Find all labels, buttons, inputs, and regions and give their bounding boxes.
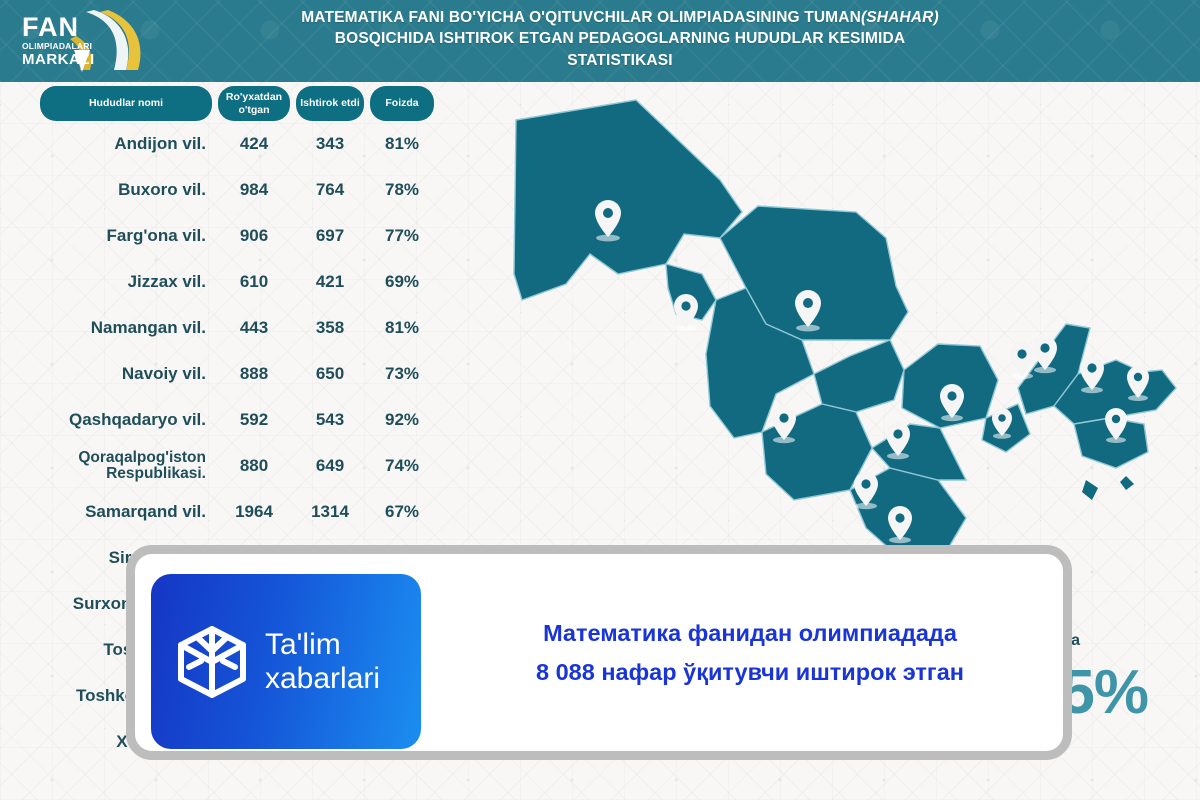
cell-participated: 358 (296, 318, 364, 338)
cell-registered: 1964 (218, 502, 290, 522)
summary-big-percent: 5% (1060, 657, 1148, 728)
cube-icon (175, 623, 249, 701)
cell-percent: 78% (370, 180, 434, 200)
cell-participated: 343 (296, 134, 364, 154)
banner-message-line1: Математика фанидан олимпиадада (543, 614, 957, 652)
table-row: Qoraqalpog'iston Respublikasi.88064974% (40, 443, 470, 489)
cell-region: Qashqadaryo vil. (40, 411, 212, 429)
banner-message-line2: 8 088 нафар ўқитувчи иштирок этган (536, 653, 964, 691)
cell-registered: 888 (218, 364, 290, 384)
cell-registered: 984 (218, 180, 290, 200)
cell-participated: 649 (296, 456, 364, 476)
cell-percent: 74% (370, 456, 434, 476)
cell-percent: 69% (370, 272, 434, 292)
cell-registered: 880 (218, 456, 290, 476)
table-row: Namangan vil.44335881% (40, 305, 470, 351)
title-line-3: STATISTIKASI (567, 52, 672, 69)
table-header-row: Hududlar nomi Ro'yxatdan o'tgan Ishtirok… (40, 86, 470, 121)
banner-logo-line2: xabarlari (265, 662, 380, 695)
map-pin (674, 294, 698, 331)
cell-region: Qoraqalpog'iston Respublikasi. (40, 450, 212, 483)
cell-region: Navoiy vil. (40, 365, 212, 383)
cell-registered: 610 (218, 272, 290, 292)
title-line-2: BOSQICHIDA ISHTIROK ETGAN PEDAGOGLARNING… (335, 30, 905, 47)
cell-percent: 92% (370, 410, 434, 430)
table-row: Navoiy vil.88865073% (40, 351, 470, 397)
summary-partial-label: а (1071, 632, 1080, 650)
column-header-percent: Foizda (370, 86, 434, 121)
cell-registered: 443 (218, 318, 290, 338)
table-row: Farg'ona vil.90669777% (40, 213, 470, 259)
uzbekistan-map-svg (470, 88, 1200, 568)
cell-region: Samarqand vil. (40, 503, 212, 521)
cell-participated: 421 (296, 272, 364, 292)
talim-xabarlari-logo[interactable]: Ta'lim xabarlari (151, 574, 421, 749)
cell-percent: 81% (370, 134, 434, 154)
cell-percent: 77% (370, 226, 434, 246)
column-header-registered: Ro'yxatdan o'tgan (218, 86, 290, 121)
title-line-1-italic: (SHAHAR) (861, 9, 939, 26)
cell-region: Jizzax vil. (40, 273, 212, 291)
cell-registered: 592 (218, 410, 290, 430)
cell-percent: 81% (370, 318, 434, 338)
cell-participated: 697 (296, 226, 364, 246)
talim-xabarlari-banner: Ta'lim xabarlari Математика фанидан олим… (126, 545, 1072, 760)
cell-percent: 67% (370, 502, 434, 522)
logo-line-markazi: MARKAZI (22, 52, 95, 67)
cell-participated: 764 (296, 180, 364, 200)
banner-message: Математика фанидан олимпиадада 8 088 наф… (445, 554, 1055, 751)
uzbekistan-map (470, 88, 1200, 568)
cell-region: Farg'ona vil. (40, 227, 212, 245)
cell-region: Buxoro vil. (40, 181, 212, 199)
banner-logo-text: Ta'lim xabarlari (265, 628, 380, 695)
map-regions (514, 100, 1176, 558)
cell-participated: 543 (296, 410, 364, 430)
cell-participated: 1314 (296, 502, 364, 522)
column-header-participated: Ishtirok etdi (296, 86, 364, 121)
cell-participated: 650 (296, 364, 364, 384)
table-row: Samarqand vil.1964131467% (40, 489, 470, 535)
cell-registered: 906 (218, 226, 290, 246)
table-row: Jizzax vil.61042169% (40, 259, 470, 305)
logo-line-fan: FAN (22, 14, 95, 41)
column-header-region: Hududlar nomi (40, 86, 212, 121)
banner-logo-line1: Ta'lim (265, 628, 341, 661)
page-title: MATEMATIKA FANI BO'YICHA O'QITUVCHILAR O… (170, 7, 1070, 71)
cell-region: Namangan vil. (40, 319, 212, 337)
table-row: Qashqadaryo vil.59254392% (40, 397, 470, 443)
table-row: Buxoro vil.98476478% (40, 167, 470, 213)
cell-region: Andijon vil. (40, 135, 212, 153)
logo-line-olimpiadalari: OLIMPIADALARI (22, 42, 95, 51)
page-header: FAN OLIMPIADALARI MARKAZI MATEMATIKA FAN… (0, 0, 1200, 82)
cell-percent: 73% (370, 364, 434, 384)
cell-registered: 424 (218, 134, 290, 154)
fan-olimpiadalari-markazi-logo: FAN OLIMPIADALARI MARKAZI (14, 6, 146, 76)
table-row: Andijon vil.42434381% (40, 121, 470, 167)
title-line-1: MATEMATIKA FANI BO'YICHA O'QITUVCHILAR O… (301, 9, 861, 26)
